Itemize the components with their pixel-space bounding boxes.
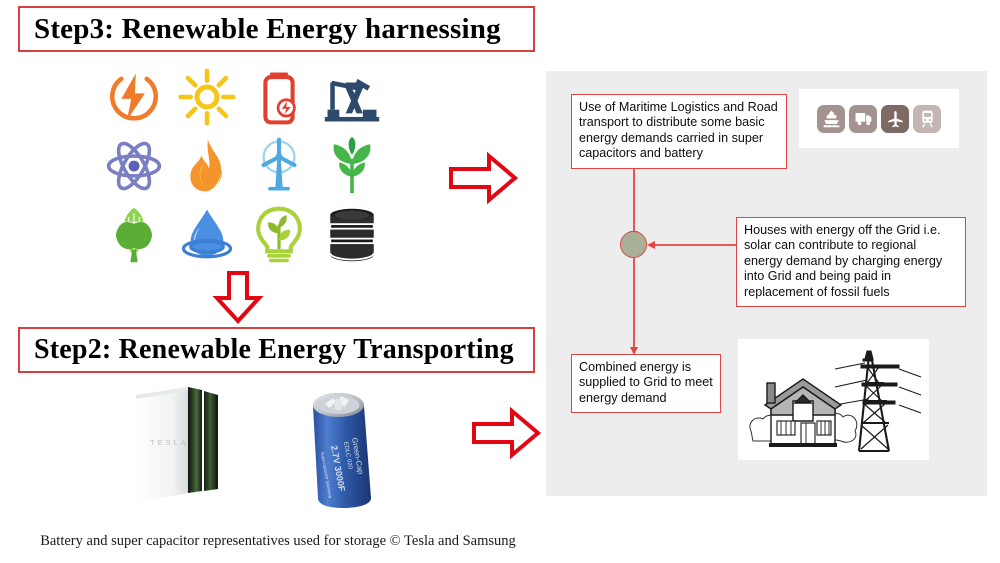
right-arrow-bottom xyxy=(470,404,542,462)
wind-turbine-icon xyxy=(250,137,308,195)
truck-icon xyxy=(849,105,877,133)
atom-icon xyxy=(105,137,163,195)
step2-title-box: Step2: Renewable Energy Transporting xyxy=(18,327,535,373)
water-drop-icon xyxy=(178,206,236,264)
lightbulb-leaf-icon xyxy=(250,206,308,264)
note-maritime-logistics: Use of Maritime Logistics and Road trans… xyxy=(571,94,787,169)
corn-icon xyxy=(105,206,163,264)
transport-modes-card xyxy=(799,89,959,148)
note-combined-text: Combined energy is supplied to Grid to m… xyxy=(579,360,713,406)
figure-caption: Battery and super capacitor representati… xyxy=(18,533,538,550)
svg-text:TESLA: TESLA xyxy=(150,438,189,447)
step3-title-text: Step3: Renewable Energy harnessing xyxy=(34,13,501,46)
train-icon xyxy=(913,105,941,133)
note-maritime-text: Use of Maritime Logistics and Road trans… xyxy=(579,100,779,162)
house-and-pylon-illustration xyxy=(738,339,929,460)
oil-barrel-icon xyxy=(323,206,381,264)
ship-icon xyxy=(817,105,845,133)
note-houses-off-grid: Houses with energy off the Grid i.e. sol… xyxy=(736,217,966,307)
step3-title-box: Step3: Renewable Energy harnessing xyxy=(18,6,535,52)
flame-icon xyxy=(178,137,236,195)
tesla-powerwall-image: TESLA xyxy=(126,381,234,509)
super-capacitor-image: Green-Cap EDLC 020 2.7V 3000F Supercapac… xyxy=(305,386,383,508)
note-houses-text: Houses with energy off the Grid i.e. sol… xyxy=(744,223,958,300)
grid-hub-node xyxy=(620,231,647,258)
note-combined-energy: Combined energy is supplied to Grid to m… xyxy=(571,354,721,413)
step2-title-text: Step2: Renewable Energy Transporting xyxy=(34,334,514,366)
grid-distribution-panel: Use of Maritime Logistics and Road trans… xyxy=(546,71,987,496)
lightning-bolt-icon xyxy=(105,68,163,126)
airplane-icon xyxy=(881,105,909,133)
plant-icon xyxy=(323,137,381,195)
renewable-energy-icon-grid xyxy=(98,62,388,270)
right-arrow-top xyxy=(447,148,519,208)
oil-pump-icon xyxy=(323,68,381,126)
battery-icon xyxy=(250,68,308,126)
down-arrow xyxy=(208,270,268,324)
sun-icon xyxy=(178,68,236,126)
